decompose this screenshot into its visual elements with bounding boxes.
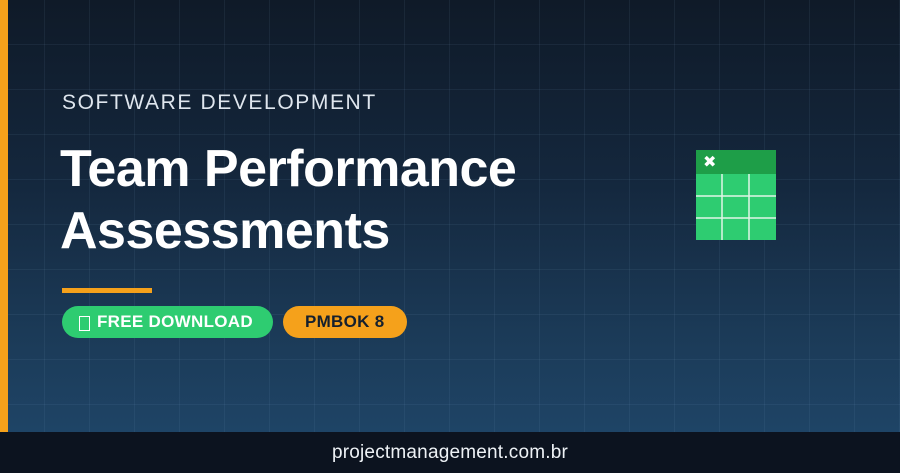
accent-divider-rule	[62, 288, 152, 293]
free-download-badge[interactable]: FREE DOWNLOAD	[62, 306, 273, 338]
spreadsheet-x-mark: ✖	[703, 153, 716, 171]
spreadsheet-cell	[724, 176, 748, 195]
title-line-1: Team Performance	[60, 138, 680, 200]
category-eyebrow: SOFTWARE DEVELOPMENT	[62, 91, 377, 115]
spreadsheet-cell	[698, 176, 722, 195]
left-accent-stripe	[0, 0, 8, 432]
spreadsheet-cell	[724, 219, 748, 238]
free-download-badge-label: FREE DOWNLOAD	[97, 312, 253, 332]
page-title: Team Performance Assessments	[60, 138, 680, 262]
spreadsheet-cell	[750, 176, 774, 195]
spreadsheet-icon: ✖	[696, 150, 776, 240]
badge-group: FREE DOWNLOAD PMBOK 8	[62, 306, 407, 338]
footer-bar: projectmanagement.com.br	[0, 432, 900, 473]
spreadsheet-cell	[750, 219, 774, 238]
spreadsheet-cell	[698, 197, 722, 216]
pmbok-badge-label: PMBOK 8	[305, 312, 385, 332]
website-url[interactable]: projectmanagement.com.br	[332, 442, 568, 464]
download-icon	[79, 316, 90, 331]
title-line-2: Assessments	[60, 200, 680, 262]
spreadsheet-header-bar: ✖	[696, 150, 776, 174]
promo-banner: SOFTWARE DEVELOPMENT Team Performance As…	[0, 0, 900, 473]
spreadsheet-grid	[696, 174, 776, 240]
spreadsheet-cell	[750, 197, 774, 216]
spreadsheet-cell	[724, 197, 748, 216]
spreadsheet-cell	[698, 219, 722, 238]
pmbok-badge[interactable]: PMBOK 8	[283, 306, 407, 338]
